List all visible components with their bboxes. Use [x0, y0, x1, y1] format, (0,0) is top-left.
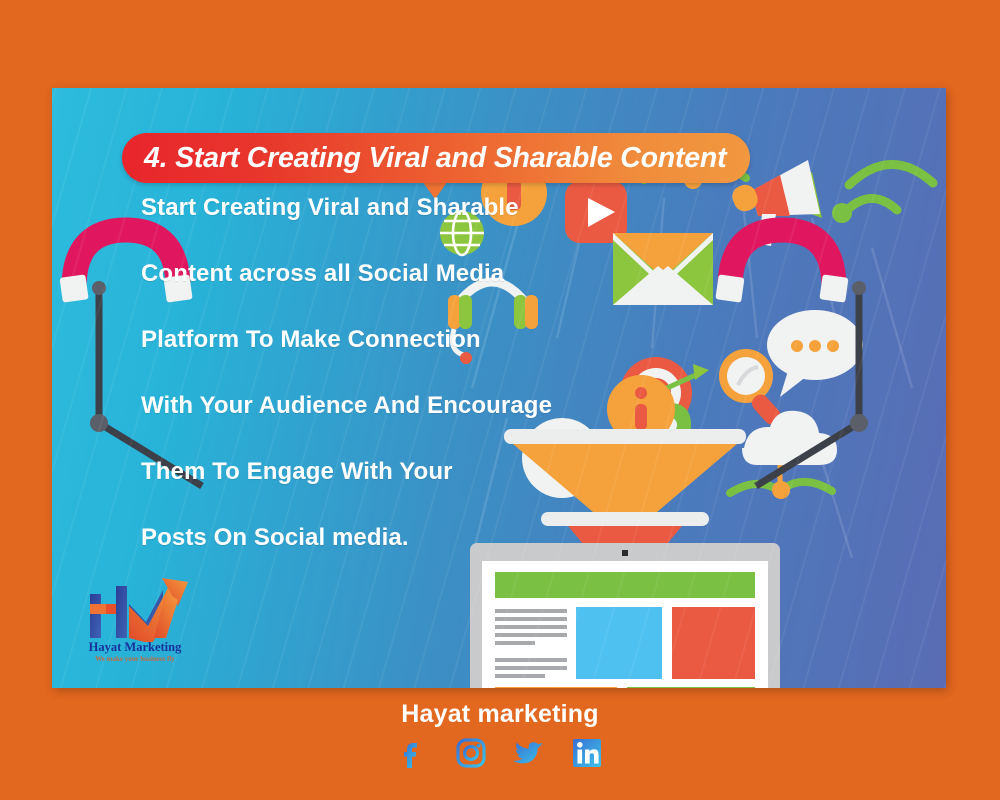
body-line-1: Start Creating Viral and Sharable [141, 196, 541, 220]
twitter-icon[interactable] [513, 737, 545, 769]
linkedin-icon[interactable] [571, 737, 603, 769]
instagram-icon[interactable] [455, 737, 487, 769]
social-links [0, 737, 1000, 769]
facebook-icon[interactable] [397, 737, 429, 769]
hayat-marketing-logo: Hayat Marketing We make your business fl… [66, 570, 204, 672]
slide-card: 4. Start Creating Viral and Sharable Con… [52, 88, 946, 688]
body-line-6: Posts On Social media. [141, 526, 541, 550]
body-line-3: Platform To Make Connection [141, 328, 541, 352]
cloud-icon [730, 411, 837, 499]
footer-brand: Hayat marketing [0, 700, 1000, 729]
envelope-icon [613, 233, 713, 305]
logo-tagline: We make your business fly [66, 655, 204, 663]
body-line-2: Content across all Social Media [141, 262, 541, 286]
body-line-4: With Your Audience And Encourage [141, 394, 541, 418]
logo-company-name: Hayat Marketing [66, 640, 204, 655]
wifi-icon [845, 164, 933, 212]
logo-monogram-icon [66, 570, 204, 642]
footer: Hayat marketing [0, 700, 1000, 769]
poster-canvas: 4. Start Creating Viral and Sharable Con… [0, 0, 1000, 800]
chat-bubble-icon [767, 310, 863, 397]
title-banner: 4. Start Creating Viral and Sharable Con… [122, 133, 750, 183]
wifi-dot [832, 203, 852, 223]
body-copy: Start Creating Viral and Sharable Conten… [141, 196, 541, 592]
title-text: 4. Start Creating Viral and Sharable Con… [144, 142, 726, 175]
body-line-5: Them To Engage With Your [141, 460, 541, 484]
